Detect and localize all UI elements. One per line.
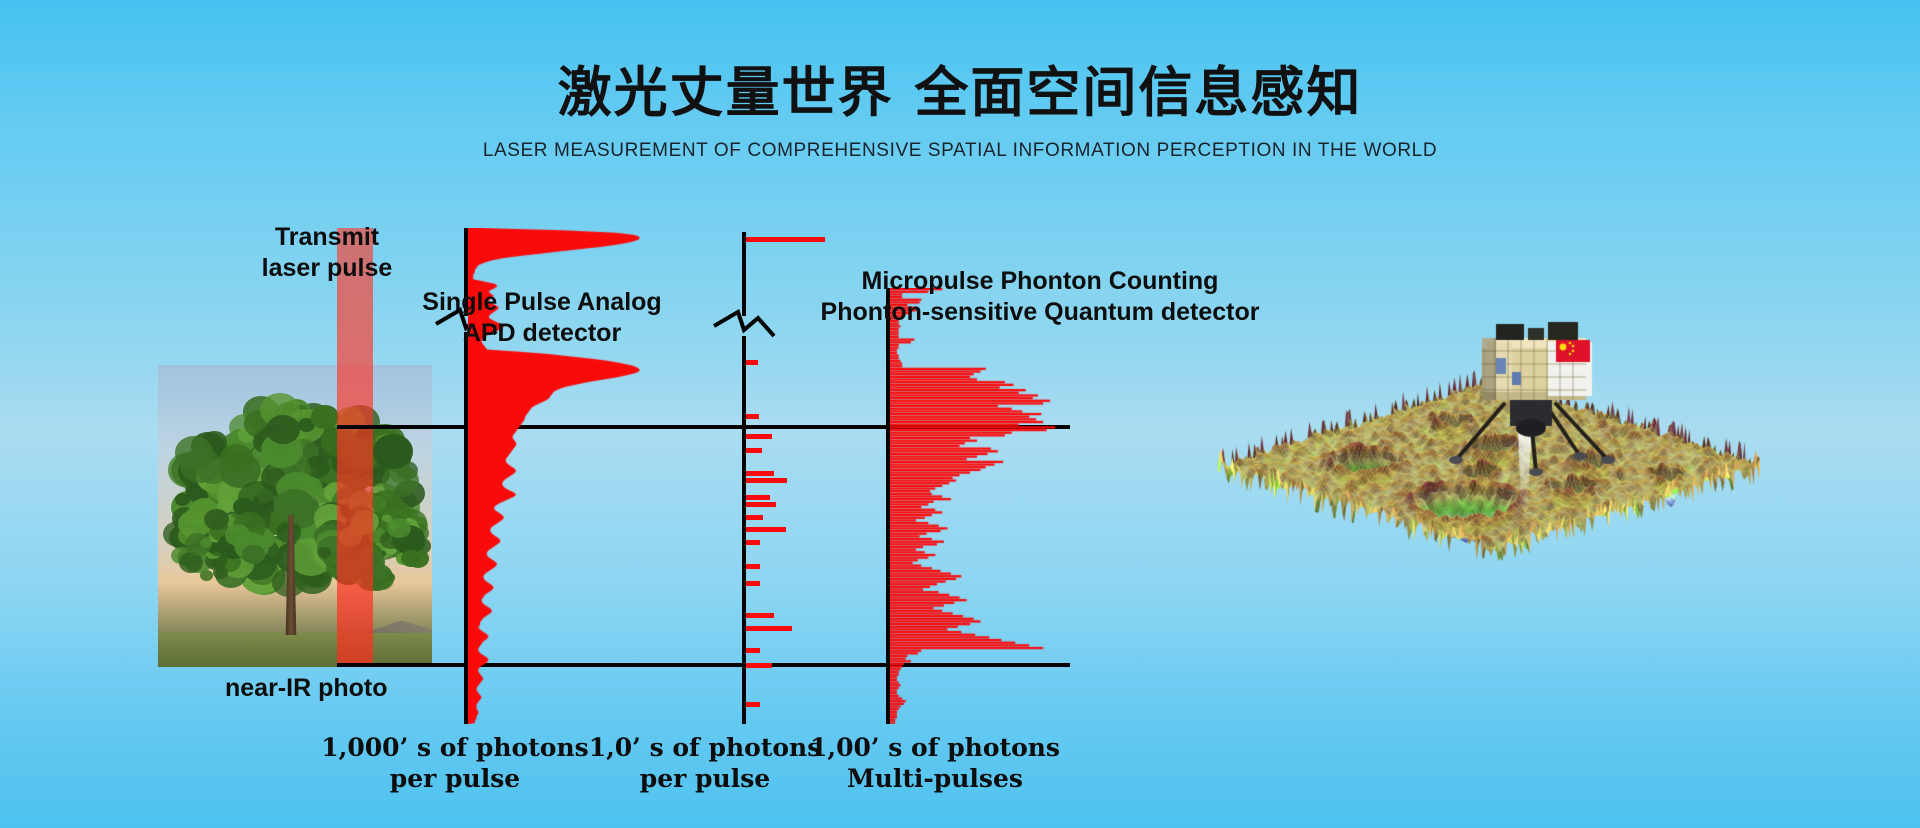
apd-detector-label: Single Pulse Analog APD detector	[392, 287, 692, 348]
photon-spike	[746, 360, 758, 365]
lunar-lander-dem-render	[1200, 290, 1760, 710]
photon-spike	[746, 626, 792, 631]
photon-spike	[746, 540, 760, 545]
tree-canopy	[176, 391, 416, 587]
micropulse-detector-label: Micropulse Phonton Counting Phonton-sens…	[820, 266, 1260, 327]
photon-spike	[746, 581, 760, 586]
photon-spike	[746, 702, 760, 707]
photon-spike	[746, 414, 759, 419]
near-ir-photo-label: near-IR photo	[225, 673, 465, 704]
photon-spike	[746, 527, 786, 532]
poster-canvas: 激光丈量世界 全面空间信息感知 LASER MEASUREMENT OF COM…	[0, 0, 1920, 828]
laser-beam	[337, 228, 373, 666]
photon-spike	[746, 237, 825, 242]
photon-spike	[746, 648, 760, 653]
photon-spike	[746, 495, 770, 500]
footer-label-multi-pulse: 1,00’ s of photons Multi-pulses	[790, 733, 1080, 794]
photon-spike	[746, 434, 772, 439]
photon-spike	[746, 564, 760, 569]
waveform-micropulse	[890, 288, 1070, 724]
footer-label-analog: 1,000’ s of photons per pulse	[310, 733, 600, 794]
page-subtitle: LASER MEASUREMENT OF COMPREHENSIVE SPATI…	[0, 140, 1920, 162]
photon-spike	[746, 502, 776, 507]
page-title: 激光丈量世界 全面空间信息感知	[0, 48, 1920, 127]
photon-spike	[746, 471, 774, 476]
photon-spike	[746, 515, 763, 520]
photon-spike	[746, 478, 787, 483]
photon-spike	[746, 613, 774, 618]
grass-foreground	[158, 633, 432, 667]
photon-spike	[746, 448, 762, 453]
near-ir-tree-photo	[158, 365, 432, 667]
photon-spike	[746, 663, 772, 668]
transmit-laser-pulse-label: Transmit laser pulse	[232, 222, 422, 283]
